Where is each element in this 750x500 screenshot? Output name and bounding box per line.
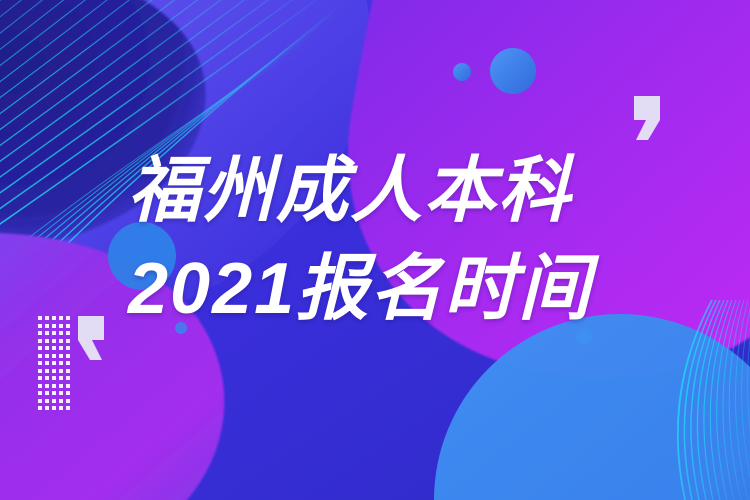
dot-grid-cell xyxy=(66,316,70,320)
dot-grid-cell xyxy=(45,324,49,328)
decor-circle-large xyxy=(490,48,536,94)
decor-circle-small xyxy=(453,63,471,81)
dot-grid-cell xyxy=(45,399,49,403)
dot-grid-cell xyxy=(52,324,56,328)
dot-grid-cell xyxy=(66,406,70,410)
dot-grid-cell xyxy=(52,369,56,373)
dot-grid-cell xyxy=(45,369,49,373)
dot-grid-cell xyxy=(52,406,56,410)
dot-grid-cell xyxy=(66,331,70,335)
blue-circle-mid-left xyxy=(108,222,176,290)
dot-grid-cell xyxy=(52,399,56,403)
dot-grid-cell xyxy=(52,339,56,343)
dot-grid-cell xyxy=(66,391,70,395)
dot-grid-cell xyxy=(38,354,42,358)
dot-grid-cell xyxy=(59,384,63,388)
dot-grid-cell xyxy=(38,406,42,410)
dot-grid-cell xyxy=(52,346,56,350)
dot-grid-cell xyxy=(45,384,49,388)
dot-grid-cell xyxy=(59,339,63,343)
dot-grid-cell xyxy=(45,354,49,358)
dot-grid-cell xyxy=(38,391,42,395)
dot-grid-cell xyxy=(59,369,63,373)
dot-grid-cell xyxy=(52,376,56,380)
dot-grid-cell xyxy=(45,316,49,320)
dot-grid-cell xyxy=(38,324,42,328)
dot-grid-cell xyxy=(38,339,42,343)
dot-grid-pattern xyxy=(38,316,72,412)
decor-circle-mini xyxy=(175,322,187,334)
dot-grid-cell xyxy=(52,361,56,365)
dot-grid-cell xyxy=(59,354,63,358)
dot-grid-cell xyxy=(66,346,70,350)
dot-grid-cell xyxy=(45,376,49,380)
dot-grid-cell xyxy=(59,376,63,380)
dot-grid-cell xyxy=(59,346,63,350)
dot-grid-cell xyxy=(45,406,49,410)
dot-grid-cell xyxy=(66,324,70,328)
dot-grid-cell xyxy=(38,369,42,373)
dot-grid-cell xyxy=(59,406,63,410)
dot-grid-cell xyxy=(66,369,70,373)
dot-grid-cell xyxy=(66,339,70,343)
dot-grid-cell xyxy=(66,399,70,403)
dot-grid-cell xyxy=(38,346,42,350)
dot-grid-cell xyxy=(66,376,70,380)
dot-grid-cell xyxy=(66,354,70,358)
dot-grid-cell xyxy=(59,331,63,335)
dot-grid-cell xyxy=(52,354,56,358)
dot-grid-cell xyxy=(45,391,49,395)
dot-grid-cell xyxy=(52,331,56,335)
dot-grid-cell xyxy=(38,399,42,403)
dot-grid-cell xyxy=(52,384,56,388)
dot-grid-cell xyxy=(38,316,42,320)
dot-grid-cell xyxy=(45,346,49,350)
dot-grid-cell xyxy=(38,361,42,365)
dot-grid-cell xyxy=(45,331,49,335)
background-artwork xyxy=(0,0,750,500)
dot-grid-cell xyxy=(45,361,49,365)
dot-grid-cell xyxy=(59,391,63,395)
dot-grid-cell xyxy=(38,331,42,335)
dot-grid-cell xyxy=(66,384,70,388)
dot-grid-cell xyxy=(45,339,49,343)
dot-grid-cell xyxy=(59,324,63,328)
dot-grid-cell xyxy=(59,399,63,403)
dot-grid-cell xyxy=(52,391,56,395)
dot-grid-cell xyxy=(38,376,42,380)
dot-grid-cell xyxy=(59,316,63,320)
promo-banner: 福州成人本科 2021报名时间 xyxy=(0,0,750,500)
dot-grid-cell xyxy=(66,361,70,365)
decor-circle-tiny xyxy=(576,329,592,345)
dot-grid-cell xyxy=(59,361,63,365)
dot-grid-cell xyxy=(52,316,56,320)
dot-grid-cell xyxy=(38,384,42,388)
